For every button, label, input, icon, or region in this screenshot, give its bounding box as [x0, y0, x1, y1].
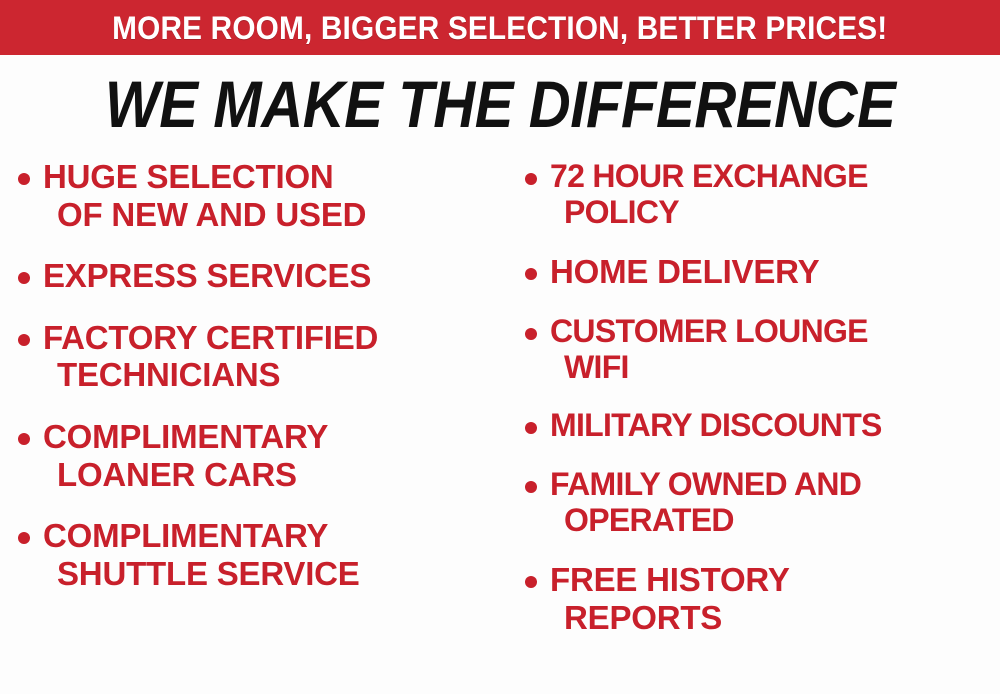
list-item-line1: HOME DELIVERY	[550, 253, 819, 290]
list-item-line2: LOANER CARS	[43, 456, 328, 494]
list-item: FREE HISTORY REPORTS	[525, 561, 998, 636]
list-item-text: EXPRESS SERVICES	[43, 257, 371, 295]
list-item: FAMILY OWNED AND OPERATED	[525, 466, 998, 539]
list-item: CUSTOMER LOUNGE WIFI	[525, 313, 998, 386]
list-item-line2: OF NEW AND USED	[43, 196, 366, 234]
list-item-line2: TECHNICIANS	[43, 356, 378, 394]
list-item-text: HUGE SELECTION OF NEW AND USED	[43, 158, 366, 233]
bullet-dot-icon	[525, 422, 537, 434]
list-item-line1: 72 HOUR EXCHANGE	[550, 158, 868, 194]
list-item: COMPLIMENTARY SHUTTLE SERVICE	[18, 517, 501, 592]
bullet-dot-icon	[525, 268, 537, 280]
bullet-dot-icon	[18, 272, 30, 284]
list-item-line1: EXPRESS SERVICES	[43, 257, 371, 294]
promo-banner: MORE ROOM, BIGGER SELECTION, BETTER PRIC…	[0, 0, 1000, 55]
bullet-dot-icon	[525, 173, 537, 185]
list-item: MILITARY DISCOUNTS	[525, 407, 998, 443]
list-item-text: FREE HISTORY REPORTS	[550, 561, 790, 636]
list-item: FACTORY CERTIFIED TECHNICIANS	[18, 319, 501, 394]
list-item-line2: REPORTS	[550, 599, 790, 637]
bullet-dot-icon	[18, 433, 30, 445]
list-item: COMPLIMENTARY LOANER CARS	[18, 418, 501, 493]
feature-columns: HUGE SELECTION OF NEW AND USED EXPRESS S…	[0, 158, 1000, 694]
bullet-dot-icon	[525, 481, 537, 493]
list-item-line1: FACTORY CERTIFIED	[43, 319, 378, 356]
list-item-text: CUSTOMER LOUNGE WIFI	[550, 313, 868, 386]
list-item-line1: FREE HISTORY	[550, 561, 790, 598]
list-item-text: FACTORY CERTIFIED TECHNICIANS	[43, 319, 378, 394]
list-item-line1: FAMILY OWNED AND	[550, 466, 861, 502]
list-item: HOME DELIVERY	[525, 253, 998, 291]
page-title: WE MAKE THE DIFFERENCE	[105, 71, 896, 137]
list-item-text: 72 HOUR EXCHANGE POLICY	[550, 158, 868, 231]
list-item-line1: CUSTOMER LOUNGE	[550, 313, 868, 349]
list-item: EXPRESS SERVICES	[18, 257, 501, 295]
bullet-dot-icon	[18, 532, 30, 544]
bullet-dot-icon	[525, 576, 537, 588]
list-item-line2: POLICY	[550, 194, 868, 230]
list-item: 72 HOUR EXCHANGE POLICY	[525, 158, 998, 231]
list-item-line1: MILITARY DISCOUNTS	[550, 407, 882, 443]
feature-column-right: 72 HOUR EXCHANGE POLICY HOME DELIVERY CU…	[505, 158, 1000, 694]
list-item: HUGE SELECTION OF NEW AND USED	[18, 158, 501, 233]
list-item-text: FAMILY OWNED AND OPERATED	[550, 466, 861, 539]
bullet-dot-icon	[18, 334, 30, 346]
list-item-text: MILITARY DISCOUNTS	[550, 407, 882, 443]
list-item-line2: OPERATED	[550, 502, 861, 538]
list-item-text: COMPLIMENTARY SHUTTLE SERVICE	[43, 517, 360, 592]
bullet-dot-icon	[18, 173, 30, 185]
headline-container: WE MAKE THE DIFFERENCE	[0, 66, 1000, 142]
list-item-text: HOME DELIVERY	[550, 253, 819, 291]
list-item-line1: COMPLIMENTARY	[43, 517, 328, 554]
promo-banner-text: MORE ROOM, BIGGER SELECTION, BETTER PRIC…	[112, 12, 887, 44]
list-item-line1: COMPLIMENTARY	[43, 418, 328, 455]
feature-column-left: HUGE SELECTION OF NEW AND USED EXPRESS S…	[0, 158, 505, 694]
list-item-text: COMPLIMENTARY LOANER CARS	[43, 418, 328, 493]
list-item-line2: SHUTTLE SERVICE	[43, 555, 360, 593]
bullet-dot-icon	[525, 328, 537, 340]
list-item-line2: WIFI	[550, 349, 868, 385]
list-item-line1: HUGE SELECTION	[43, 158, 334, 195]
